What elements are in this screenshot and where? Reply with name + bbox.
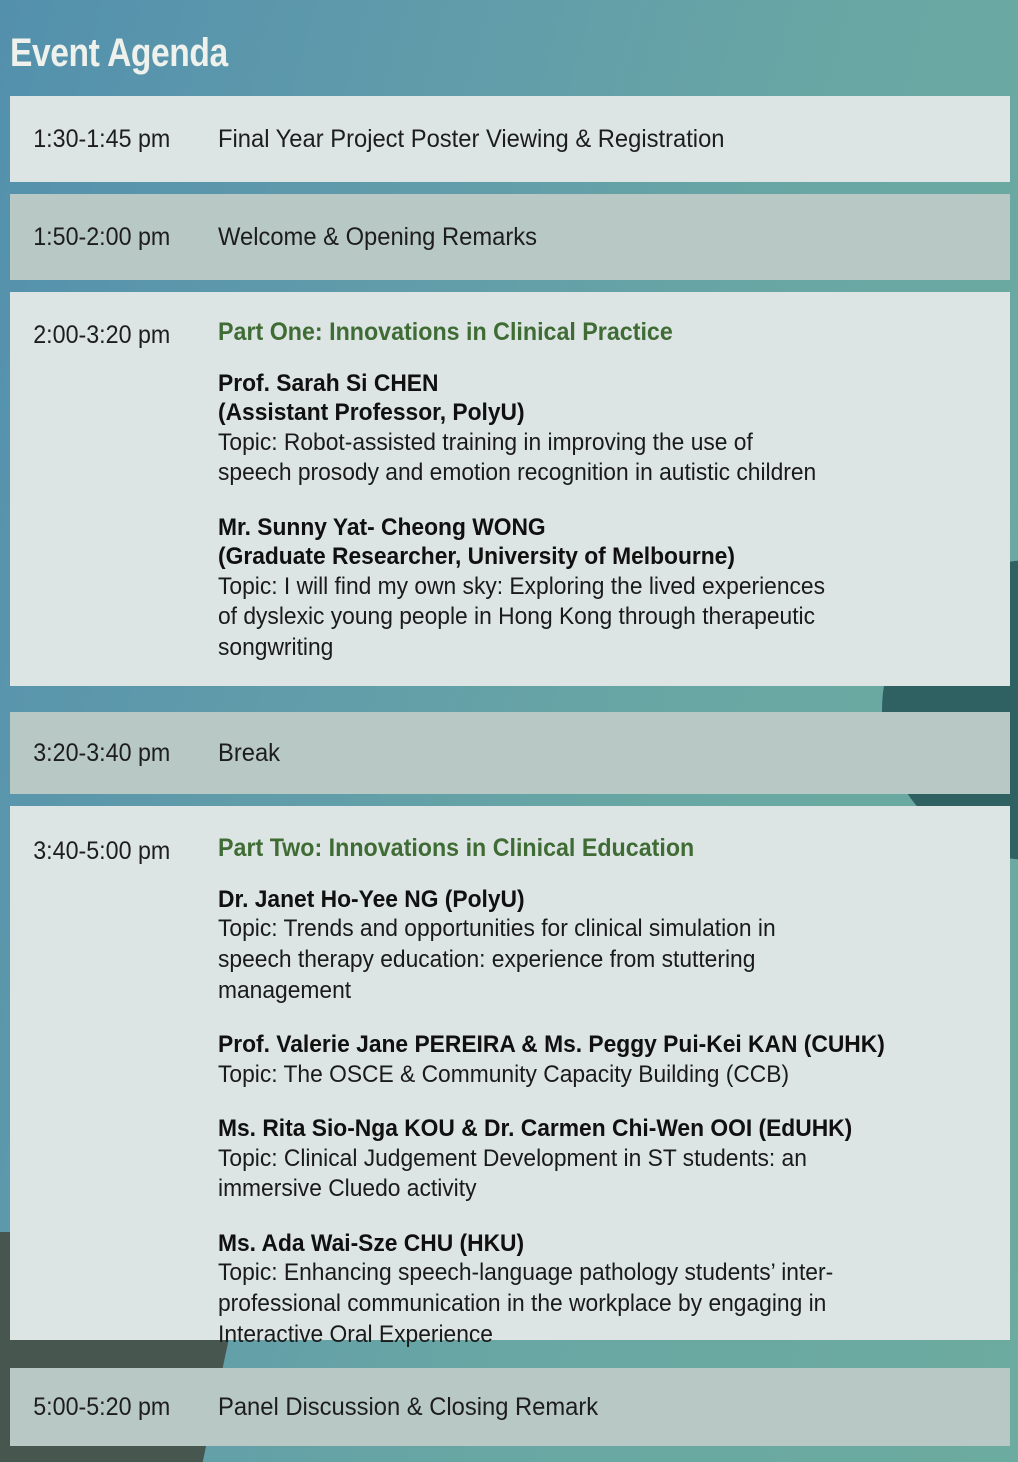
event-agenda-poster: Event Agenda 1:30-1:45 pm Final Year Pro… — [0, 0, 1018, 1462]
talk-item: Ms. Ada Wai-Sze CHU (HKU) Topic: Enhanci… — [218, 1229, 990, 1350]
agenda-row-part-two: 3:40-5:00 pm Part Two: Innovations in Cl… — [10, 806, 1010, 1340]
agenda-row-time: 3:20-3:40 pm — [10, 739, 203, 768]
agenda-row-welcome: 1:50-2:00 pm Welcome & Opening Remarks — [10, 194, 1010, 280]
agenda-row-time: 1:50-2:00 pm — [10, 223, 203, 252]
agenda-row-label: Panel Discussion & Closing Remark — [218, 1393, 951, 1422]
talk-topic: Topic: Enhancing speech-language patholo… — [218, 1258, 951, 1350]
talk-speaker: Ms. Ada Wai-Sze CHU (HKU) — [218, 1229, 951, 1258]
talk-speaker: Prof. Sarah Si CHEN (Assistant Professor… — [218, 369, 951, 428]
page-title: Event Agenda — [10, 33, 228, 73]
talk-item: Mr. Sunny Yat- Cheong WONG (Graduate Res… — [218, 513, 990, 664]
session-heading-part-two: Part Two: Innovations in Clinical Educat… — [218, 834, 936, 863]
talk-topic: Topic: I will find my own sky: Exploring… — [218, 572, 951, 664]
agenda-row-label: Welcome & Opening Remarks — [218, 223, 951, 252]
talk-item: Prof. Sarah Si CHEN (Assistant Professor… — [218, 369, 990, 489]
agenda-row-registration: 1:30-1:45 pm Final Year Project Poster V… — [10, 96, 1010, 182]
agenda-row-content: Part One: Innovations in Clinical Practi… — [218, 318, 1010, 664]
agenda-row-content: Break — [218, 739, 1010, 768]
talk-topic: Topic: Robot-assisted training in improv… — [218, 428, 951, 489]
agenda-row-time: 2:00-3:20 pm — [10, 318, 203, 350]
agenda-row-panel: 5:00-5:20 pm Panel Discussion & Closing … — [10, 1368, 1010, 1446]
agenda-row-time: 5:00-5:20 pm — [10, 1393, 203, 1422]
talk-item: Prof. Valerie Jane PEREIRA & Ms. Peggy P… — [218, 1030, 990, 1090]
talk-topic: Topic: The OSCE & Community Capacity Bui… — [218, 1060, 951, 1091]
talk-speaker: Ms. Rita Sio-Nga KOU & Dr. Carmen Chi-We… — [218, 1114, 951, 1143]
agenda-row-label: Final Year Project Poster Viewing & Regi… — [218, 125, 951, 154]
session-heading-part-one: Part One: Innovations in Clinical Practi… — [218, 318, 936, 347]
agenda-row-content: Final Year Project Poster Viewing & Regi… — [218, 125, 1010, 154]
agenda-row-content: Panel Discussion & Closing Remark — [218, 1393, 1010, 1422]
talk-item: Ms. Rita Sio-Nga KOU & Dr. Carmen Chi-We… — [218, 1114, 990, 1205]
agenda-row-label: Break — [218, 739, 951, 768]
talk-topic: Topic: Trends and opportunities for clin… — [218, 914, 951, 1006]
talk-item: Dr. Janet Ho-Yee NG (PolyU) Topic: Trend… — [218, 885, 990, 1006]
talk-speaker: Dr. Janet Ho-Yee NG (PolyU) — [218, 885, 951, 914]
talk-speaker: Mr. Sunny Yat- Cheong WONG (Graduate Res… — [218, 513, 951, 572]
agenda-row-part-one: 2:00-3:20 pm Part One: Innovations in Cl… — [10, 292, 1010, 686]
agenda-row-time: 3:40-5:00 pm — [10, 834, 203, 866]
agenda-row-content: Welcome & Opening Remarks — [218, 223, 1010, 252]
agenda-row-break: 3:20-3:40 pm Break — [10, 712, 1010, 794]
agenda-row-time: 1:30-1:45 pm — [10, 125, 203, 154]
talk-speaker: Prof. Valerie Jane PEREIRA & Ms. Peggy P… — [218, 1030, 951, 1059]
agenda-row-content: Part Two: Innovations in Clinical Educat… — [218, 834, 1010, 1351]
talk-topic: Topic: Clinical Judgement Development in… — [218, 1144, 951, 1205]
